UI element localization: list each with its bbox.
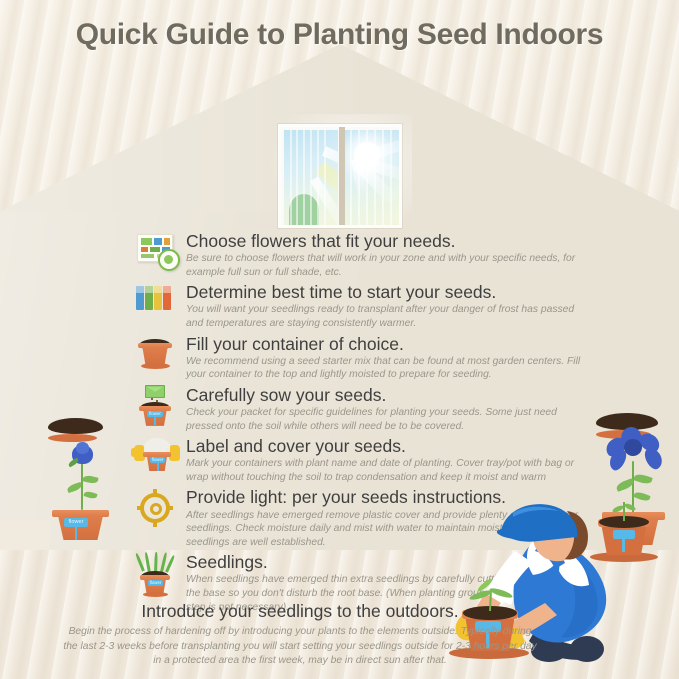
pot-tag-stem — [75, 526, 77, 540]
pot-saucer — [48, 434, 97, 442]
step-body: Check your packet for specific guideline… — [186, 406, 584, 433]
step-body: Be sure to choose flowers that will work… — [186, 252, 584, 279]
sunny-window — [278, 124, 402, 228]
blind-stripe — [317, 130, 319, 228]
step-heading: Carefully sow your seeds. — [186, 385, 584, 405]
leaf — [82, 474, 98, 484]
window-pane-right — [344, 130, 399, 228]
pot-saucer — [143, 592, 168, 597]
pot-tag: flower — [148, 580, 163, 586]
seed-packets-icon — [134, 282, 180, 326]
step-heading: Fill your container of choice. — [186, 334, 584, 354]
step-fill-container: Fill your container of choice. We recomm… — [134, 334, 584, 382]
step-choose-flowers: Choose flowers that fit your needs. Be s… — [134, 231, 584, 279]
sun-light-icon — [134, 487, 180, 531]
footer-body: Begin the process of hardening off by in… — [60, 625, 540, 669]
blind-stripe — [310, 130, 312, 228]
blind-stripe — [296, 130, 298, 228]
pot-rim — [52, 510, 109, 517]
sowing-seeds-icon: flower — [134, 385, 180, 429]
blind-stripe — [390, 130, 392, 228]
blind-stripe — [303, 130, 305, 228]
blind-stripe — [358, 130, 360, 228]
flower-center — [624, 439, 642, 456]
house-wall-notch — [0, 520, 50, 550]
soil — [48, 418, 103, 434]
rose-bloom-highlight — [76, 442, 89, 454]
blind-stripe — [290, 130, 292, 228]
leaf — [633, 472, 653, 485]
step-heading: Determine best time to start your seeds. — [186, 282, 584, 302]
seed-envelope — [145, 385, 165, 398]
window-pane-left — [284, 130, 338, 228]
potted-blue-rose: flower — [48, 418, 118, 543]
seed-catalog-icon — [134, 231, 180, 275]
step-sow-seeds: flower Carefully sow your seeds. Check y… — [134, 385, 584, 433]
pot-saucer — [141, 363, 170, 369]
blind-stripe — [374, 130, 376, 228]
gloves-covered-pot-icon: flower — [134, 436, 180, 480]
infographic-canvas: Quick Guide to Planting Seed Indoors flo… — [0, 0, 679, 679]
blind-stripe — [324, 130, 326, 228]
seedlings-pot-icon: flower — [134, 552, 180, 598]
step-body: You will want your seedlings ready to tr… — [186, 303, 584, 330]
petal — [642, 445, 666, 471]
step-body: We recommend using a seed starter mix th… — [186, 355, 584, 382]
step-body: Mark your containers with plant name and… — [186, 457, 584, 484]
window-mullion — [339, 127, 345, 225]
step-determine-time: Determine best time to start your seeds.… — [134, 282, 584, 330]
filled-pot-icon — [134, 334, 180, 378]
step-label-cover: flower Label and cover your seeds. Mark … — [134, 436, 584, 484]
page-title: Quick Guide to Planting Seed Indoors — [0, 18, 679, 52]
pot-rim — [138, 343, 172, 348]
blind-stripe — [382, 130, 384, 228]
step-heading: Label and cover your seeds. — [186, 436, 584, 456]
step-heading: Choose flowers that fit your needs. — [186, 231, 584, 251]
sun-ring — [140, 493, 170, 523]
footer-heading: Introduce your seedlings to the outdoors… — [60, 601, 540, 622]
plant-badge-icon — [158, 249, 180, 271]
footer-callout: Introduce your seedlings to the outdoors… — [60, 601, 540, 669]
blind-stripe — [366, 130, 368, 228]
leaf — [83, 490, 97, 500]
blind-stripe — [350, 130, 352, 228]
